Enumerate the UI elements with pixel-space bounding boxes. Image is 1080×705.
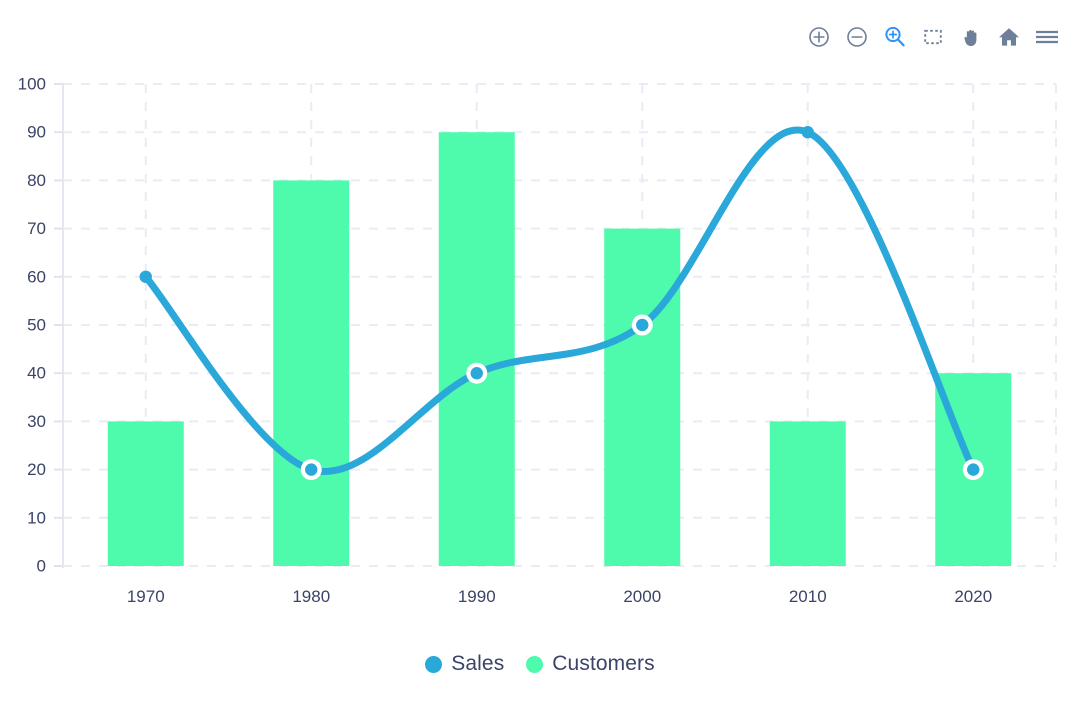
data-point-1980[interactable]	[301, 459, 322, 480]
svg-text:10: 10	[27, 508, 46, 527]
bar-1970	[108, 421, 184, 566]
line-series-markers[interactable]	[140, 126, 984, 480]
svg-text:2010: 2010	[789, 587, 827, 606]
legend-marker-customers	[526, 656, 543, 673]
bar-1980	[273, 180, 349, 566]
svg-text:20: 20	[27, 460, 46, 479]
svg-text:1980: 1980	[292, 587, 330, 606]
chart-legend: Sales Customers	[0, 652, 1080, 676]
svg-text:70: 70	[27, 219, 46, 238]
svg-text:80: 80	[27, 171, 46, 190]
svg-text:40: 40	[27, 364, 46, 383]
svg-text:60: 60	[27, 267, 46, 286]
svg-text:1970: 1970	[127, 587, 165, 606]
bar-1990	[439, 132, 515, 566]
data-point-2000[interactable]	[632, 315, 653, 336]
y-axis-labels: 0102030405060708090100	[18, 74, 46, 575]
data-point-2010[interactable]	[802, 126, 814, 138]
x-axis-labels: 197019801990200020102020	[127, 587, 992, 606]
data-point-1970[interactable]	[140, 271, 152, 283]
legend-label-sales: Sales	[451, 652, 504, 676]
bar-2010	[770, 421, 846, 566]
svg-text:50: 50	[27, 315, 46, 334]
svg-text:90: 90	[27, 123, 46, 142]
chart-app: 0102030405060708090100 19701980199020002…	[0, 0, 1080, 705]
svg-text:2000: 2000	[623, 587, 661, 606]
svg-text:0: 0	[37, 556, 46, 575]
legend-marker-sales	[425, 656, 442, 673]
chart-plot-svg[interactable]: 0102030405060708090100 19701980199020002…	[0, 0, 1080, 705]
bar-series-customers[interactable]	[108, 132, 1012, 566]
data-point-2020[interactable]	[963, 459, 984, 480]
data-point-1990[interactable]	[466, 363, 487, 384]
svg-text:2020: 2020	[954, 587, 992, 606]
legend-label-customers: Customers	[552, 652, 654, 676]
svg-text:1990: 1990	[458, 587, 496, 606]
svg-text:30: 30	[27, 412, 46, 431]
y-axis-ticks	[54, 84, 63, 566]
svg-text:100: 100	[18, 74, 46, 93]
bar-2000	[604, 229, 680, 566]
chart-canvas: 0102030405060708090100 19701980199020002…	[0, 0, 1080, 705]
grid-lines-horizontal	[63, 84, 1056, 566]
legend-item-sales[interactable]: Sales	[425, 652, 504, 676]
legend-item-customers[interactable]: Customers	[526, 652, 654, 676]
